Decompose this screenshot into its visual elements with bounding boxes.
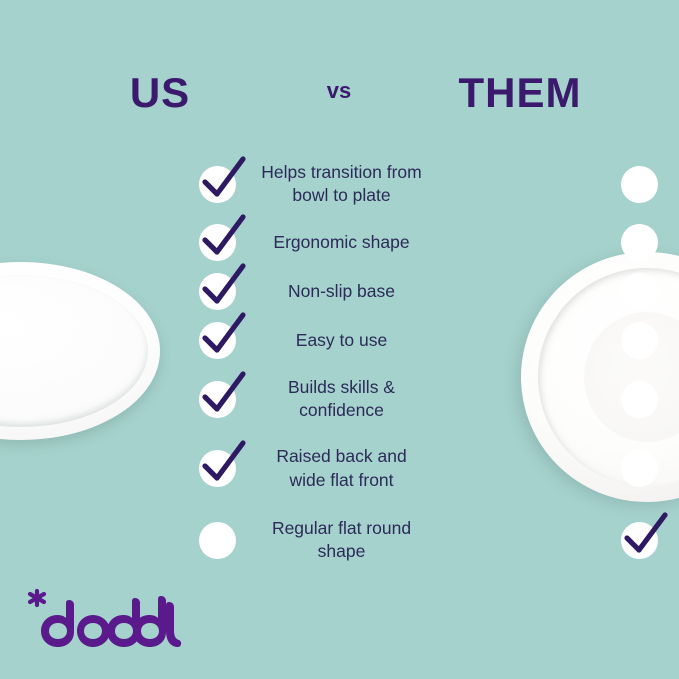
row-6-us-cell — [177, 433, 257, 504]
row-1-us-cell — [177, 150, 257, 218]
check-icon — [199, 273, 236, 310]
row-3-them-cell — [599, 267, 679, 316]
empty-circle-icon — [621, 273, 658, 310]
row-4-us-cell — [177, 316, 257, 365]
table-row: Non-slip base — [0, 267, 679, 316]
row-3-feature-label: Non-slip base — [257, 280, 426, 303]
doddl-logo — [22, 588, 182, 650]
empty-circle-icon — [621, 322, 658, 359]
empty-circle-icon — [621, 166, 658, 203]
check-icon — [199, 381, 236, 418]
comparison-header: US vs THEM — [0, 0, 679, 140]
empty-circle-icon — [621, 224, 658, 261]
row-6-feature-label: Raised back and wide flat front — [257, 445, 426, 492]
table-row: Ergonomic shape — [0, 218, 679, 267]
empty-circle-icon — [621, 381, 658, 418]
row-4-feature-label: Easy to use — [257, 329, 426, 352]
infographic-canvas: US vs THEM Helps transition from bowl to… — [0, 0, 679, 679]
check-icon — [199, 166, 236, 203]
table-row: Raised back and wide flat front — [0, 433, 679, 504]
empty-circle-icon — [621, 450, 658, 487]
table-row: Builds skills & confidence — [0, 365, 679, 433]
check-icon — [199, 224, 236, 261]
column-heading-vs: vs — [309, 80, 369, 102]
row-4-them-cell — [599, 316, 679, 365]
column-heading-them: THEM — [452, 72, 588, 114]
table-row: Regular flat round shape — [0, 504, 679, 576]
row-7-feature-label: Regular flat round shape — [257, 517, 426, 564]
column-heading-us: US — [108, 72, 212, 114]
check-icon — [621, 522, 658, 559]
doddl-wordmark-icon — [22, 588, 182, 650]
empty-circle-icon — [199, 522, 236, 559]
check-icon — [199, 322, 236, 359]
check-icon — [199, 450, 236, 487]
row-5-them-cell — [599, 365, 679, 433]
row-5-us-cell — [177, 365, 257, 433]
row-1-feature-label: Helps transition from bowl to plate — [257, 161, 426, 208]
table-row: Helps transition from bowl to plate — [0, 150, 679, 218]
row-1-them-cell — [599, 150, 679, 218]
table-row: Easy to use — [0, 316, 679, 365]
row-5-feature-label: Builds skills & confidence — [257, 376, 426, 423]
row-7-them-cell — [599, 504, 679, 576]
row-2-feature-label: Ergonomic shape — [257, 231, 426, 254]
row-2-them-cell — [599, 218, 679, 267]
comparison-rows: Helps transition from bowl to plate Ergo… — [0, 150, 679, 576]
row-6-them-cell — [599, 433, 679, 504]
row-7-us-cell — [177, 504, 257, 576]
